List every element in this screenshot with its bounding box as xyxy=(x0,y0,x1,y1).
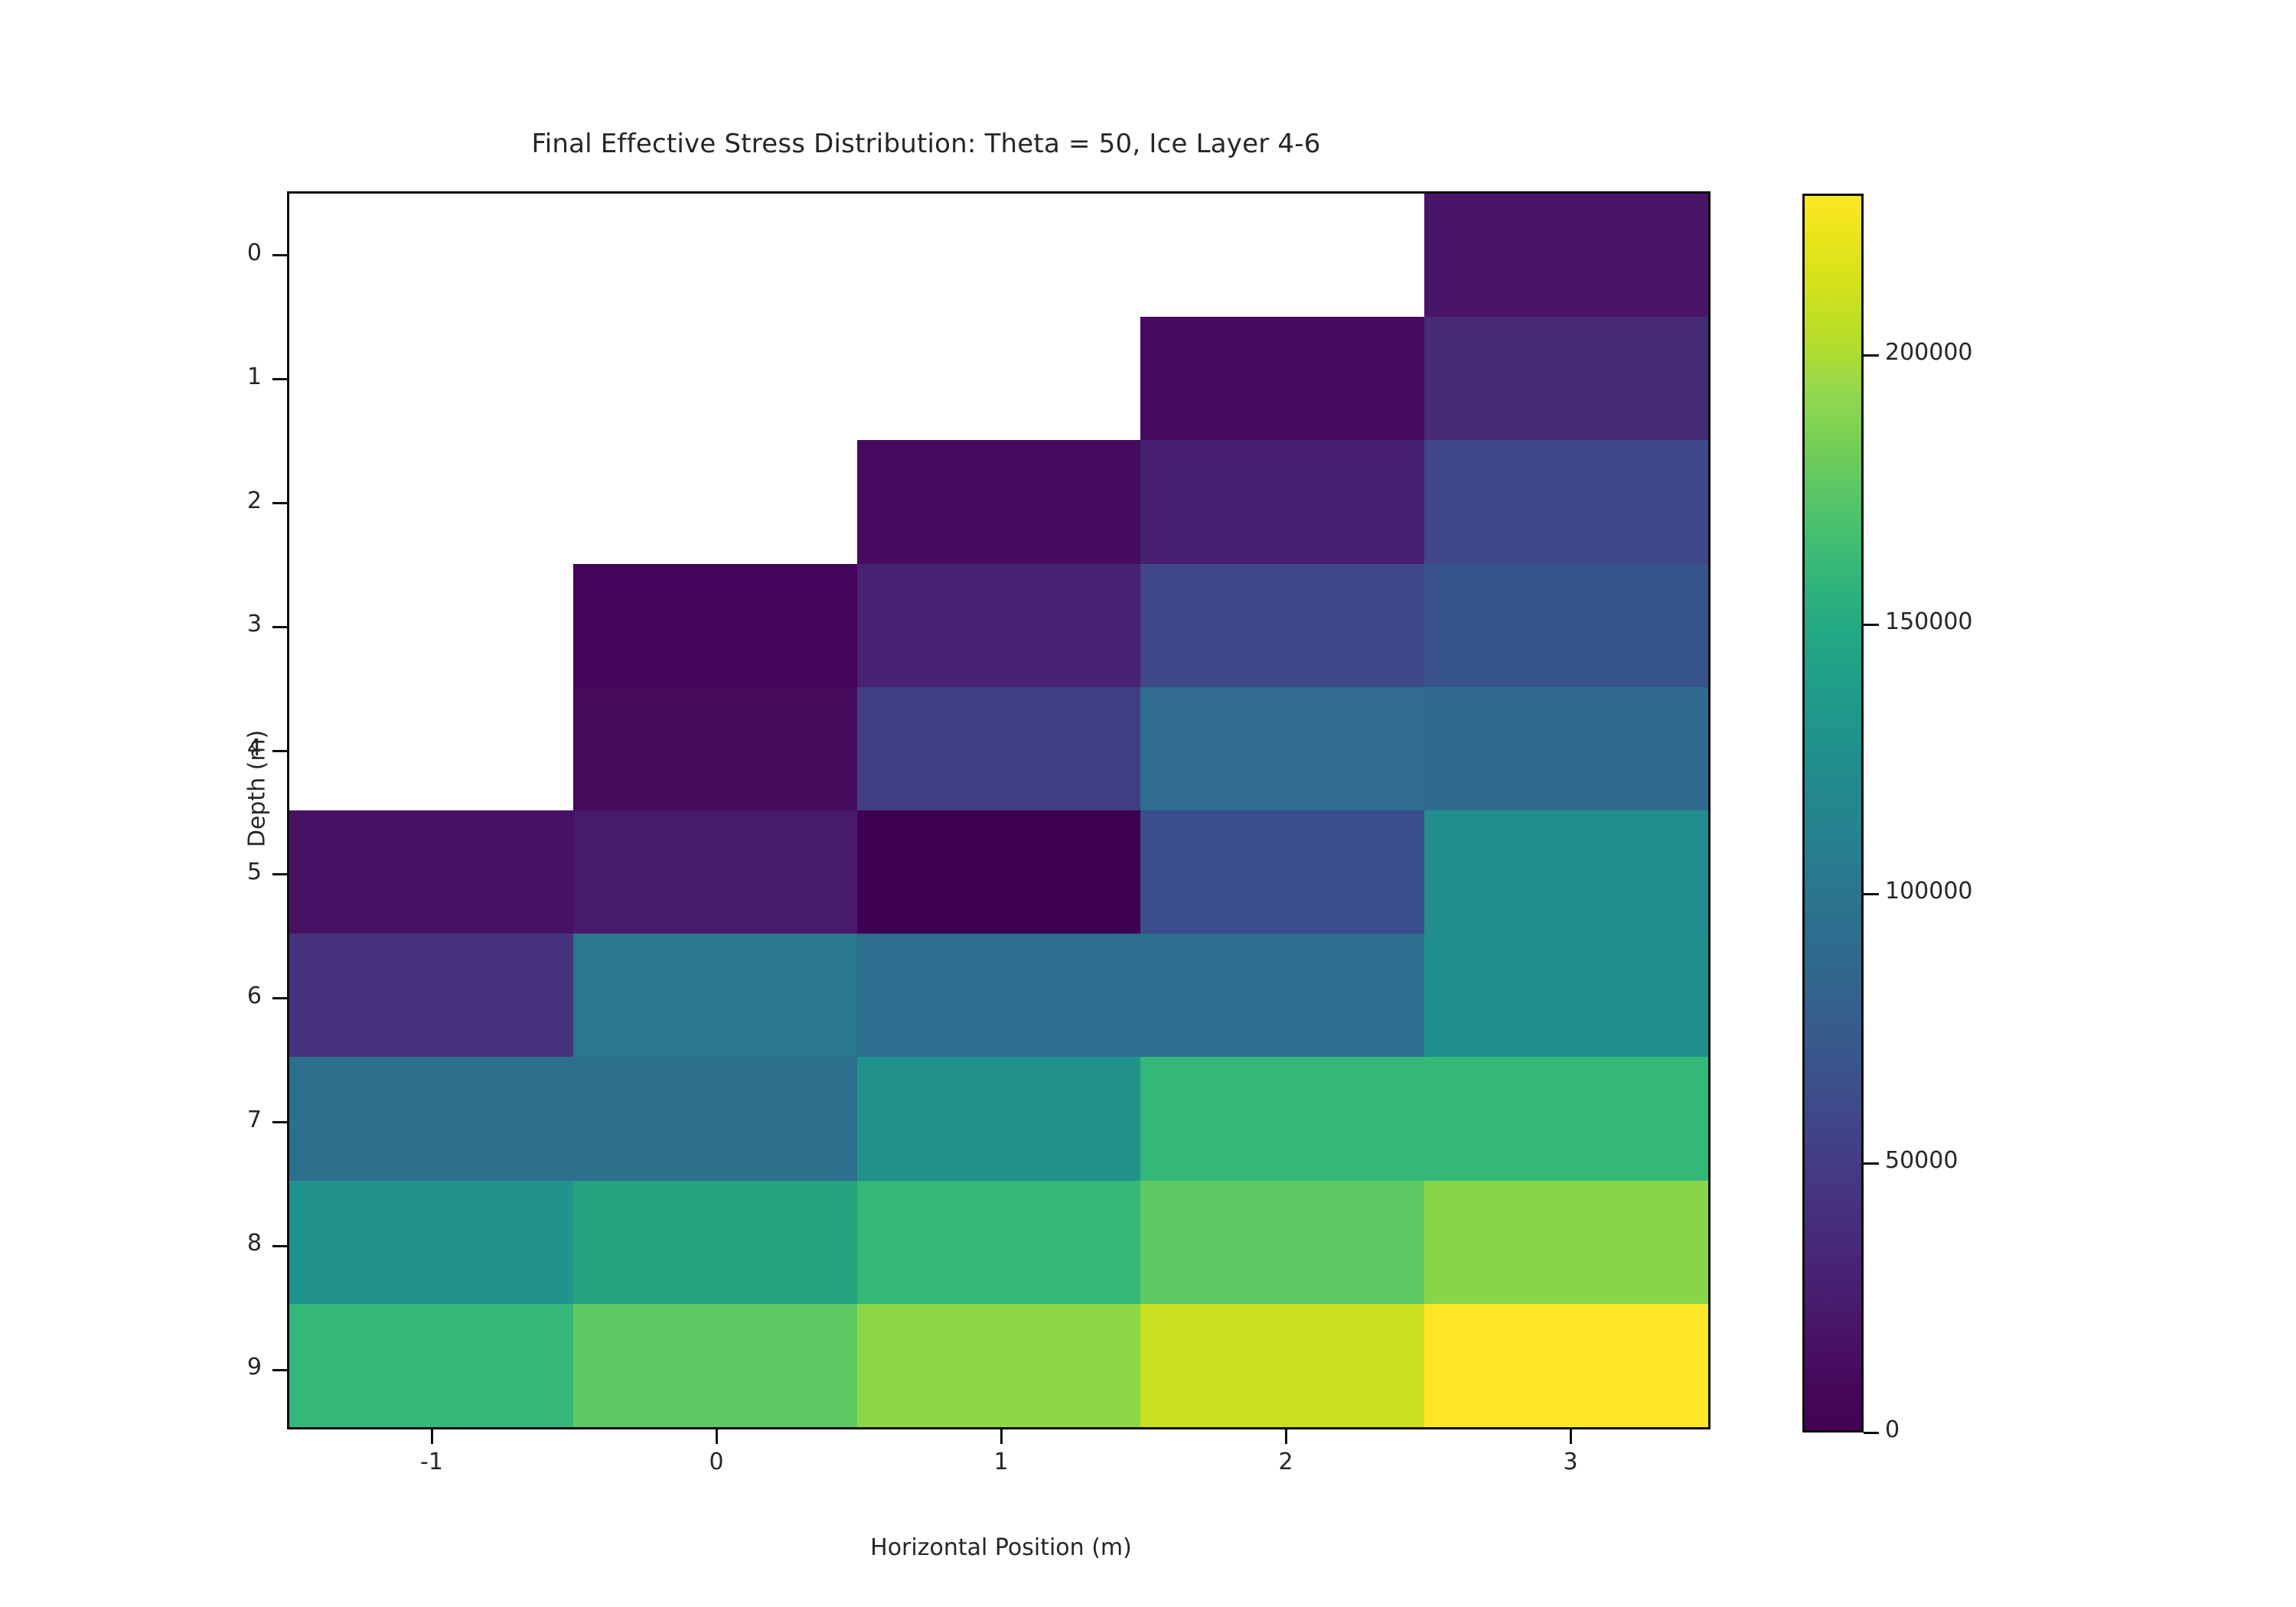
heatmap-cell xyxy=(289,934,573,1057)
heatmap-plot-area: 0123456789 -10123 Depth (m) Horizontal P… xyxy=(287,191,1711,1429)
heatmap-cell xyxy=(289,1304,573,1427)
y-axis-tick-label: 8 xyxy=(167,1230,262,1257)
y-axis-tick xyxy=(272,750,289,752)
y-axis-tick-label: 9 xyxy=(167,1354,262,1380)
x-axis-tick-label: 2 xyxy=(1240,1449,1332,1475)
heatmap-cell xyxy=(1140,194,1424,317)
heatmap-cell xyxy=(1424,440,1708,563)
colorbar-tick-label: 50000 xyxy=(1885,1147,1958,1174)
heatmap-cell xyxy=(573,687,857,810)
heatmap-cell xyxy=(1424,1057,1708,1180)
y-axis-tick-label: 1 xyxy=(167,363,262,390)
y-axis-tick xyxy=(272,254,289,256)
colorbar-tick-label: 0 xyxy=(1885,1416,1900,1443)
heatmap-cell xyxy=(857,934,1141,1057)
y-axis-tick xyxy=(272,626,289,628)
heatmap-cell xyxy=(857,317,1141,440)
heatmap-cell xyxy=(289,194,573,317)
heatmap-cell xyxy=(573,564,857,687)
heatmap-cell xyxy=(573,1304,857,1427)
y-axis-tick-label: 7 xyxy=(167,1107,262,1133)
heatmap-cell xyxy=(289,317,573,440)
x-axis-tick xyxy=(431,1427,433,1444)
heatmap-cell xyxy=(573,934,857,1057)
heatmap-cell xyxy=(289,810,573,934)
heatmap-cell xyxy=(1140,564,1424,687)
heatmap-cell xyxy=(1424,1304,1708,1427)
heatmap-cell xyxy=(573,194,857,317)
heatmap-cell xyxy=(1140,1304,1424,1427)
heatmap-cell xyxy=(289,687,573,810)
colorbar: 050000100000150000200000 Effective Stres… xyxy=(1802,194,1864,1433)
y-axis-tick xyxy=(272,997,289,999)
colorbar-tick xyxy=(1864,1432,1879,1434)
heatmap-cell xyxy=(1424,934,1708,1057)
heatmap-cell xyxy=(1140,317,1424,440)
heatmap-cell xyxy=(289,1057,573,1180)
y-axis-tick-label: 2 xyxy=(167,487,262,514)
y-axis-tick xyxy=(272,1245,289,1247)
x-axis-tick xyxy=(1285,1427,1287,1444)
heatmap-cell xyxy=(1140,1181,1424,1304)
y-axis-tick xyxy=(272,1369,289,1371)
heatmap-cell xyxy=(857,687,1141,810)
colorbar-tick xyxy=(1864,1162,1879,1165)
heatmap-grid xyxy=(289,194,1708,1427)
heatmap-cell xyxy=(1140,440,1424,563)
y-axis-tick-label: 6 xyxy=(167,983,262,1009)
heatmap-cell xyxy=(1140,810,1424,934)
heatmap-cell xyxy=(1140,934,1424,1057)
x-axis-label: Horizontal Position (m) xyxy=(289,1534,1713,1561)
heatmap-cell xyxy=(573,1181,857,1304)
heatmap-cell xyxy=(573,1057,857,1180)
y-axis-tick xyxy=(272,873,289,875)
colorbar-gradient xyxy=(1802,194,1864,1433)
heatmap-cell xyxy=(857,1304,1141,1427)
heatmap-cell xyxy=(1424,317,1708,440)
y-axis-tick-label: 0 xyxy=(167,240,262,266)
x-axis-tick-label: -1 xyxy=(386,1449,478,1475)
heatmap-cell xyxy=(1140,687,1424,810)
colorbar-tick-label: 100000 xyxy=(1885,878,1973,905)
heatmap-cell xyxy=(573,317,857,440)
heatmap-cell xyxy=(1424,687,1708,810)
heatmap-cell xyxy=(289,440,573,563)
heatmap-cell xyxy=(1424,564,1708,687)
y-axis-label: Depth (m) xyxy=(244,628,271,950)
heatmap-cell xyxy=(857,564,1141,687)
colorbar-tick-label: 150000 xyxy=(1885,608,1973,635)
heatmap-cell xyxy=(857,194,1141,317)
x-axis-tick xyxy=(716,1427,718,1444)
y-axis-tick xyxy=(272,1121,289,1123)
x-axis-tick xyxy=(1000,1427,1003,1444)
colorbar-tick-label: 200000 xyxy=(1885,339,1973,366)
heatmap-cell xyxy=(1424,810,1708,934)
x-axis-tick xyxy=(1570,1427,1572,1444)
heatmap-cell xyxy=(289,564,573,687)
colorbar-tick xyxy=(1864,893,1879,895)
heatmap-cell xyxy=(857,440,1141,563)
page-title: Final Effective Stress Distribution: The… xyxy=(0,129,1852,159)
heatmap-cell xyxy=(1424,194,1708,317)
y-axis-tick xyxy=(272,502,289,504)
heatmap-cell xyxy=(573,440,857,563)
x-axis-tick-label: 0 xyxy=(670,1449,762,1475)
heatmap-cell xyxy=(289,1181,573,1304)
heatmap-cell xyxy=(1424,1181,1708,1304)
x-axis-tick-label: 3 xyxy=(1525,1449,1616,1475)
heatmap-cell xyxy=(857,1181,1141,1304)
heatmap-cell xyxy=(1140,1057,1424,1180)
chart-root: Final Effective Stress Distribution: The… xyxy=(0,0,2296,1607)
heatmap-cell xyxy=(573,810,857,934)
heatmap-cell xyxy=(857,810,1141,934)
colorbar-tick xyxy=(1864,354,1879,357)
x-axis-tick-label: 1 xyxy=(955,1449,1047,1475)
colorbar-tick xyxy=(1864,624,1879,626)
heatmap-cell xyxy=(857,1057,1141,1180)
y-axis-tick xyxy=(272,378,289,380)
